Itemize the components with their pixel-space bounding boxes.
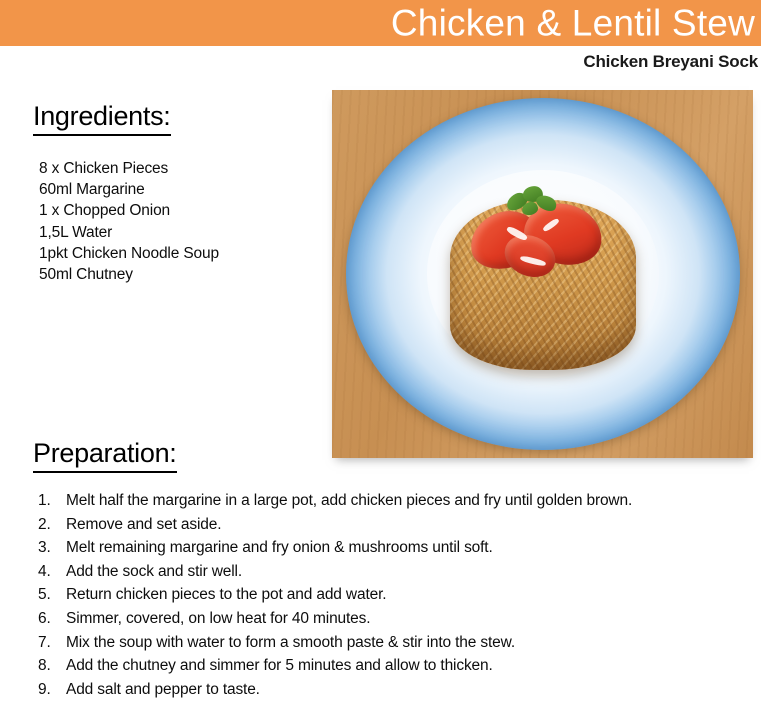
chicken-timbale-graphic [450,200,636,370]
list-item: 50ml Chutney [39,264,319,285]
list-item: 1pkt Chicken Noodle Soup [39,243,319,264]
list-item: 2. Remove and set aside. [38,513,748,537]
title-band: Chicken & Lentil Stew [0,0,761,46]
recipe-photo [332,90,753,458]
list-item: 8 x Chicken Pieces [39,158,319,179]
step-text: Mix the soup with water to form a smooth… [66,634,515,651]
list-item: 3. Melt remaining margarine and fry onio… [38,536,748,560]
herb-garnish-graphic [506,186,558,220]
preparation-heading: Preparation: [33,438,177,473]
list-item: 60ml Margarine [39,179,319,200]
step-number: 3. [38,536,60,560]
step-number: 2. [38,513,60,537]
step-number: 9. [38,678,60,702]
step-text: Add the sock and stir well. [66,563,242,580]
list-item: 6. Simmer, covered, on low heat for 40 m… [38,607,748,631]
list-item: 8. Add the chutney and simmer for 5 minu… [38,654,748,678]
step-text: Add the chutney and simmer for 5 minutes… [66,657,493,674]
list-item: 9. Add salt and pepper to taste. [38,678,748,702]
step-text: Return chicken pieces to the pot and add… [66,586,386,603]
list-item: 4. Add the sock and stir well. [38,560,748,584]
step-text: Remove and set aside. [66,516,221,533]
step-number: 7. [38,631,60,655]
step-text: Melt remaining margarine and fry onion &… [66,539,493,556]
step-text: Melt half the margarine in a large pot, … [66,492,632,509]
step-number: 6. [38,607,60,631]
step-number: 1. [38,489,60,513]
step-text: Add salt and pepper to taste. [66,681,260,698]
step-text: Simmer, covered, on low heat for 40 minu… [66,610,370,627]
recipe-title: Chicken & Lentil Stew [391,5,755,42]
list-item: 1 x Chopped Onion [39,200,319,221]
ingredients-list: 8 x Chicken Pieces 60ml Margarine 1 x Ch… [39,158,319,285]
recipe-subtitle: Chicken Breyani Sock [583,52,758,72]
list-item: 5. Return chicken pieces to the pot and … [38,583,748,607]
step-number: 5. [38,583,60,607]
list-item: 1. Melt half the margarine in a large po… [38,489,748,513]
list-item: 1,5L Water [39,222,319,243]
step-number: 4. [38,560,60,584]
list-item: 7. Mix the soup with water to form a smo… [38,631,748,655]
photo-image [332,90,753,458]
preparation-steps-list: 1. Melt half the margarine in a large po… [38,489,748,701]
step-number: 8. [38,654,60,678]
ingredients-heading: Ingredients: [33,101,171,136]
